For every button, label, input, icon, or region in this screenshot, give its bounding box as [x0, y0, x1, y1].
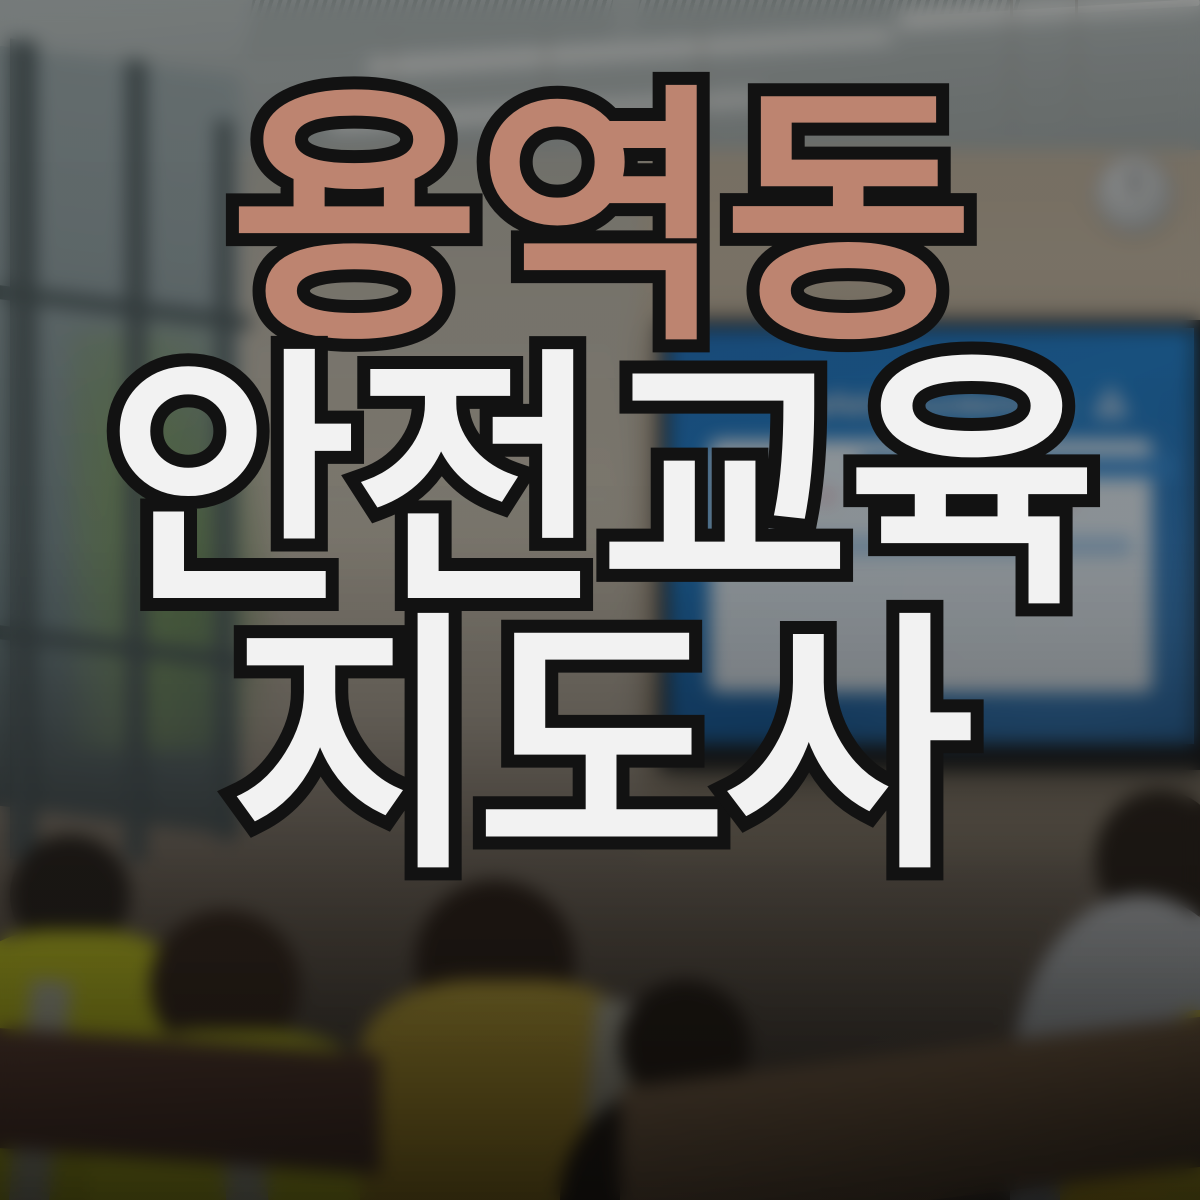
poster-canvas: Safety Guidelines ▪▪▪▪▪ — [0, 0, 1200, 1200]
headline-line-3: 지도사 — [230, 624, 971, 874]
headline-block: 용역동 안전교육 지도사 — [0, 0, 1200, 1200]
headline-line-2: 안전교육 — [106, 360, 1094, 610]
headline-line-1: 용역동 — [230, 96, 971, 346]
